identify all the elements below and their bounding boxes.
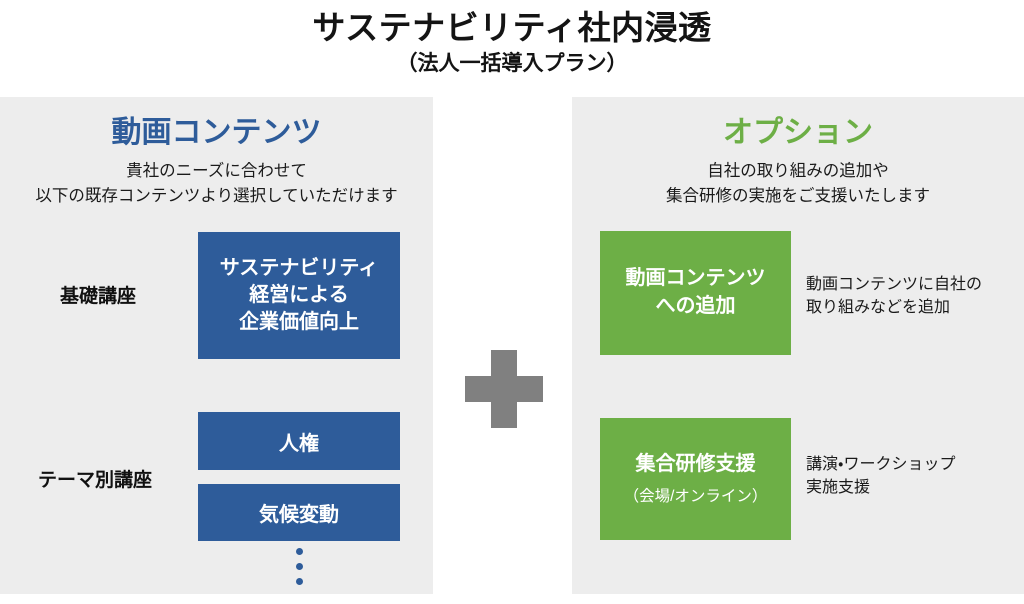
video-content-description-line-2: 以下の既存コンテンツより選択していただけます [0,184,433,209]
slide-canvas: サステナビリティ社内浸透 （法人一括導入プラン） 動画コンテンツ 貴社のニーズに… [0,0,1024,604]
option-box-group-training-support[interactable]: 集合研修支援 （会場/オンライン） [600,418,791,540]
theme-course-item-human-rights[interactable]: 人権 [198,412,400,470]
theme-course-label: テーマ別講座 [38,465,152,492]
theme-course-item-climate-change[interactable]: 気候変動 [198,484,400,541]
basic-course-box-line-1: サステナビリティ [220,255,378,282]
page-subtitle: （法人一括導入プラン） [0,51,1024,77]
option-box-2-line-1: 集合研修支援 [636,451,756,479]
option-box-1-main-text: 動画コンテンツ への追加 [626,265,766,320]
ellipsis-dot [296,578,303,585]
page-title: サステナビリティ社内浸透 [0,8,1024,48]
video-content-description: 貴社のニーズに合わせて 以下の既存コンテンツより選択していただけます [0,159,433,209]
option-box-1-line-1: 動画コンテンツ [626,265,766,293]
basic-course-label: 基礎講座 [60,281,136,308]
video-content-description-line-1: 貴社のニーズに合わせて [0,159,433,184]
option-box-video-content-addition[interactable]: 動画コンテンツ への追加 [600,231,791,355]
option-2-description: 講演・ワークショップ 実施支援 [806,453,955,499]
option-2-description-line-1: 講演・ワークショップ [806,453,955,476]
basic-course-box-line-3: 企業価値向上 [220,309,378,336]
video-content-heading: 動画コンテンツ [0,115,433,151]
option-description-line-1: 自社の取り組みの追加や [572,159,1024,184]
plus-icon [465,350,543,428]
option-1-description-line-1: 動画コンテンツに自社の [806,273,982,296]
vertical-ellipsis-icon [293,548,305,585]
option-heading: オプション [572,115,1024,151]
plus-icon-vertical-bar [491,350,517,428]
ellipsis-dot [296,548,303,555]
option-1-description-line-2: 取り組みなどを追加 [806,296,982,319]
ellipsis-dot [296,563,303,570]
slide-title-block: サステナビリティ社内浸透 （法人一括導入プラン） [0,8,1024,77]
option-description: 自社の取り組みの追加や 集合研修の実施をご支援いたします [572,159,1024,209]
basic-course-box[interactable]: サステナビリティ 経営による 企業価値向上 [198,232,400,359]
option-box-2-sub-text: （会場/オンライン） [624,487,768,507]
option-box-1-line-2: への追加 [626,293,766,321]
option-box-2-main-text: 集合研修支援 [636,451,756,479]
option-2-description-line-2: 実施支援 [806,476,955,499]
basic-course-box-line-2: 経営による [220,282,378,309]
option-description-line-2: 集合研修の実施をご支援いたします [572,184,1024,209]
option-1-description: 動画コンテンツに自社の 取り組みなどを追加 [806,273,982,319]
basic-course-box-text: サステナビリティ 経営による 企業価値向上 [220,255,378,337]
